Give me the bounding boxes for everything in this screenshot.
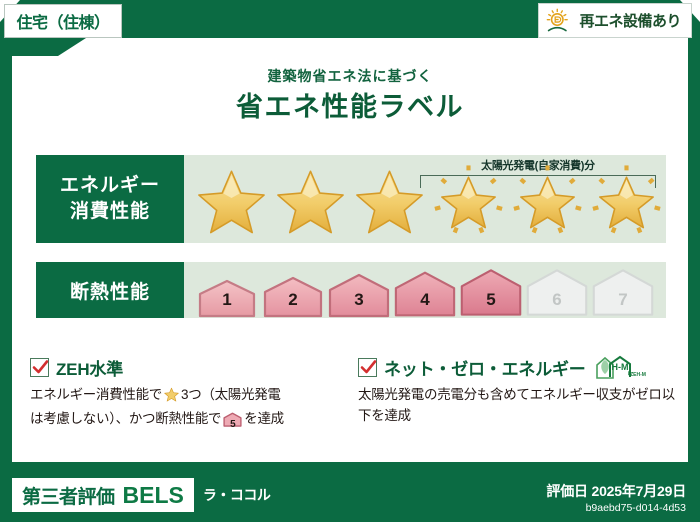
sun-solar-icon (545, 8, 573, 34)
svg-text:H-M: H-M (611, 362, 628, 372)
insulation-level-number: 6 (524, 290, 590, 310)
energy-stars-area: 太陽光発電(自家消費)分 (184, 155, 666, 243)
star-plain (192, 161, 271, 237)
insulation-level-badge: 4 (392, 269, 458, 318)
insulation-label-text: 断熱性能 (70, 277, 150, 304)
zeh-standard-header: ZEH水準 (30, 355, 350, 379)
net-zero-energy-block: ネット・ゼロ・エネルギー H-M 『ZEH-M』 太陽光発電の売電分も含めてエネ… (358, 355, 678, 427)
insulation-levels-area: 1 2 (184, 262, 666, 318)
energy-label-line2: 消費性能 (70, 199, 150, 225)
net-zero-energy-title: ネット・ゼロ・エネルギー (384, 355, 586, 380)
zeh-m-house-icon: H-M 『ZEH-M』 (594, 354, 646, 380)
insulation-performance-label: 断熱性能 (36, 262, 184, 318)
footer-left-group: 第三者評価 BELS ラ・ココル (12, 478, 270, 512)
net-zero-energy-description: 太陽光発電の売電分も含めてエネルギー収支がゼロ以下を達成 (358, 385, 678, 427)
zeh-standard-description: エネルギー消費性能で3つ（太陽光発電は考慮しない）、かつ断熱性能で5を達成 (30, 385, 350, 434)
insulation-performance-row: 断熱性能 1 (36, 262, 666, 318)
insulation-level-badge-inactive: 7 (590, 266, 656, 318)
evaluation-date: 評価日 2025年7月29日 (546, 481, 686, 501)
star-plain (271, 161, 350, 237)
net-zero-energy-header: ネット・ゼロ・エネルギー H-M 『ZEH-M』 (358, 355, 678, 379)
insulation-level-number: 7 (590, 290, 656, 310)
inline-level-badge-icon: 5 (223, 412, 242, 434)
page-title: 省エネ性能ラベル (0, 85, 700, 124)
evaluation-id: b9aebd75-d014-4d53 (546, 502, 686, 514)
inline-star-icon (163, 390, 180, 405)
insulation-level-badge: 3 (326, 272, 392, 318)
insulation-level-number: 1 (194, 290, 260, 310)
check-icon (358, 358, 377, 377)
zeh-desc-part4: を達成 (244, 411, 284, 426)
renewable-label: 再エネ設備あり (579, 10, 681, 31)
third-party-eval-label: 第三者評価 (22, 482, 115, 509)
zeh-standard-block: ZEH水準 エネルギー消費性能で3つ（太陽光発電は考慮しない）、かつ断熱性能で5… (30, 355, 350, 434)
inline-level-number: 5 (223, 417, 242, 433)
insulation-level-badge-inactive: 6 (524, 266, 590, 318)
zeh-desc-part1: エネルギー消費性能で (30, 387, 162, 402)
zeh-standard-title: ZEH水準 (56, 355, 123, 380)
insulation-level-scale: 1 2 (194, 262, 656, 318)
star-rating (192, 161, 666, 237)
energy-performance-label: エネルギー 消費性能 (36, 155, 184, 243)
energy-label-line1: エネルギー (60, 173, 160, 199)
subtitle: 建築物省エネ法に基づく (0, 66, 700, 86)
insulation-level-badge: 1 (194, 278, 260, 318)
bels-energy-label: 住宅（住棟） 再エネ設備あり 建築物省エネ法 (0, 0, 700, 522)
builder-name: ラ・ココル (203, 485, 271, 505)
house-type-tag: 住宅（住棟） (4, 4, 122, 38)
check-icon (30, 358, 49, 377)
zeh-desc-part3: は考慮しない）、かつ断熱性能で (30, 411, 221, 426)
energy-performance-row: エネルギー 消費性能 太陽光発電(自家消費)分 (36, 155, 666, 243)
insulation-level-number: 2 (260, 290, 326, 310)
star-plain (350, 161, 429, 237)
star-solar-sparkle (587, 161, 666, 237)
insulation-level-number: 3 (326, 290, 392, 310)
house-type-label: 住宅（住棟） (16, 9, 109, 33)
zeh-desc-part2: 3つ（太陽光発電 (181, 387, 281, 402)
insulation-level-number: 5 (458, 290, 524, 310)
svg-text:『ZEH-M』: 『ZEH-M』 (625, 371, 646, 378)
insulation-level-number: 4 (392, 290, 458, 310)
footer-right-group: 評価日 2025年7月29日 b9aebd75-d014-4d53 (546, 481, 686, 514)
bels-certification-badge: 第三者評価 BELS (12, 478, 194, 512)
star-solar-sparkle (508, 161, 587, 237)
bels-logo-text: BELS (123, 482, 184, 509)
insulation-level-badge: 2 (260, 275, 326, 318)
insulation-level-badge: 5 (458, 266, 524, 318)
renewable-equipment-badge: 再エネ設備あり (538, 3, 692, 38)
star-solar-sparkle (429, 161, 508, 237)
